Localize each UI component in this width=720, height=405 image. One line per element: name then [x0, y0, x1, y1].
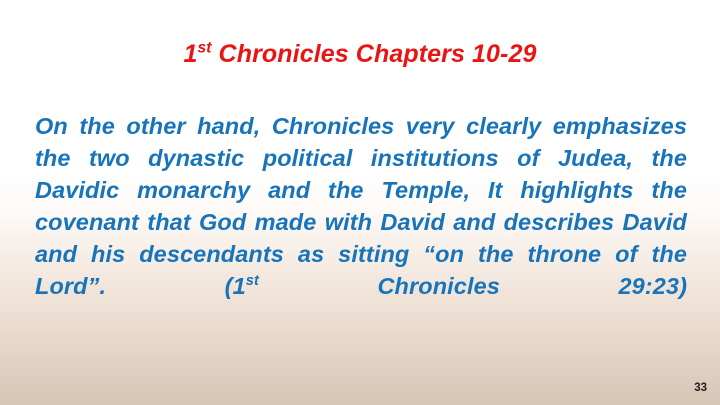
slide-title-container: 1st Chronicles Chapters 10-29 — [0, 41, 720, 69]
title-prefix: 1 — [184, 40, 198, 68]
slide-body-container: On the other hand, Chronicles very clear… — [35, 110, 687, 334]
body-ordinal-superscript: st — [246, 273, 259, 289]
title-ordinal-superscript: st — [198, 40, 212, 57]
page-title: 1st Chronicles Chapters 10-29 — [184, 41, 537, 69]
page-number: 33 — [694, 383, 707, 395]
body-text-part-two: Chronicles 29:23) — [259, 273, 687, 299]
body-text-part-one: On the other hand, Chronicles very clear… — [35, 113, 687, 299]
title-rest: Chronicles Chapters 10-29 — [212, 40, 537, 68]
slide-canvas: 1st Chronicles Chapters 10-29 On the oth… — [0, 0, 720, 405]
body-paragraph: On the other hand, Chronicles very clear… — [35, 110, 687, 334]
